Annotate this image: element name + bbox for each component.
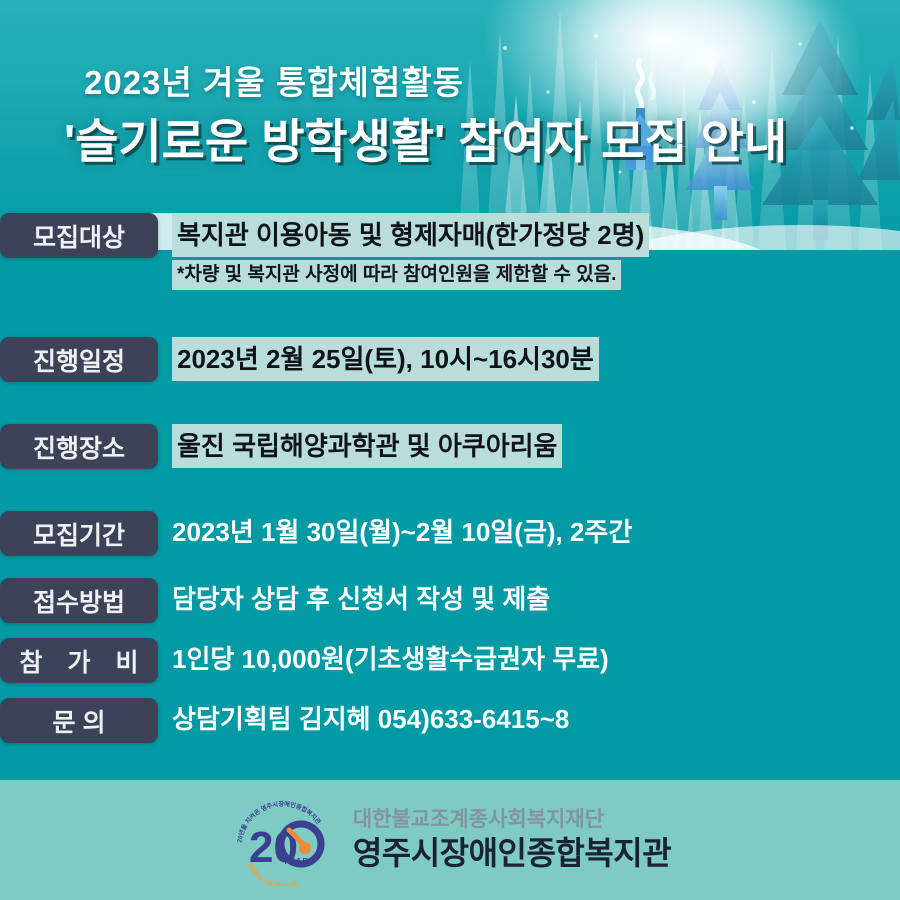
info-row-location: 진행장소 울진 국립해양과학관 및 아쿠아리움 (0, 424, 900, 469)
label-badge-recruit-target: 모집대상 (0, 213, 158, 258)
label-badge-schedule: 진행일정 (0, 337, 158, 382)
emblem-years-label: YEARS (283, 857, 316, 866)
note-recruit-target: *차량 및 복지관 사정에 따라 참여인원을 제한할 수 있음. (172, 260, 621, 290)
value-cell-recruit-period: 2023년 1월 30일(월)~2월 10일(금), 2주간 (158, 511, 900, 553)
value-cell-fee: 1인당 10,000원(기초생활수급권자 무료) (158, 638, 900, 680)
info-row-recruit-period: 모집기간 2023년 1월 30일(월)~2월 10일(금), 2주간 (0, 511, 900, 556)
row-spacer (0, 382, 900, 424)
value-recruit-period: 2023년 1월 30일(월)~2월 10일(금), 2주간 (172, 511, 632, 553)
label-badge-location: 진행장소 (0, 424, 158, 469)
row-spacer (0, 556, 900, 578)
value-cell-apply-method: 담당자 상담 후 신청서 작성 및 제출 (158, 578, 900, 620)
footer-text-block: 대한불교조계종사회복지재단 영주시장애인종합복지관 (353, 807, 671, 873)
anniversary-20-years-emblem-icon: 20년을 지켜온 영주시장애인종합복지관 함께하는 나눔 행복 미래 20 YE… (229, 794, 337, 886)
row-spacer (0, 623, 900, 638)
poster-subtitle: 2023년 겨울 통합체험활동 (84, 60, 900, 106)
value-cell-schedule: 2023년 2월 25일(토), 10시~16시30분 (158, 337, 900, 381)
value-cell-location: 울진 국립해양과학관 및 아쿠아리움 (158, 424, 900, 468)
poster-title: '슬기로운 방학생활' 참여자 모집 안내 (64, 112, 900, 172)
value-fee: 1인당 10,000원(기초생활수급권자 무료) (172, 638, 609, 680)
info-row-recruit-target: 모집대상 복지관 이용아동 및 형제자매(한가정당 2명) *차량 및 복지관 … (0, 213, 900, 290)
row-spacer (0, 469, 900, 511)
label-badge-contact: 문 의 (0, 698, 158, 743)
value-cell-recruit-target: 복지관 이용아동 및 형제자매(한가정당 2명) *차량 및 복지관 사정에 따… (158, 213, 900, 290)
label-badge-apply-method: 접수방법 (0, 578, 158, 623)
info-table: 모집대상 복지관 이용아동 및 형제자매(한가정당 2명) *차량 및 복지관 … (0, 213, 900, 743)
foundation-name: 대한불교조계종사회복지재단 (353, 807, 671, 833)
poster-root: 2023년 겨울 통합체험활동 '슬기로운 방학생활' 참여자 모집 안내 모집… (0, 0, 900, 900)
value-apply-method: 담당자 상담 후 신청서 작성 및 제출 (172, 578, 550, 620)
title-block: 2023년 겨울 통합체험활동 '슬기로운 방학생활' 참여자 모집 안내 (0, 60, 900, 172)
info-row-apply-method: 접수방법 담당자 상담 후 신청서 작성 및 제출 (0, 578, 900, 623)
value-contact: 상담기획팀 김지혜 054)633-6415~8 (172, 698, 569, 740)
label-badge-fee: 참 가 비 (0, 638, 158, 683)
row-spacer (0, 683, 900, 698)
info-row-contact: 문 의 상담기획팀 김지혜 054)633-6415~8 (0, 698, 900, 743)
row-spacer (0, 290, 900, 337)
footer-band: 20년을 지켜온 영주시장애인종합복지관 함께하는 나눔 행복 미래 20 YE… (0, 780, 900, 900)
value-schedule: 2023년 2월 25일(토), 10시~16시30분 (172, 337, 599, 381)
label-badge-recruit-period: 모집기간 (0, 511, 158, 556)
value-location: 울진 국립해양과학관 및 아쿠아리움 (172, 424, 562, 468)
info-row-schedule: 진행일정 2023년 2월 25일(토), 10시~16시30분 (0, 337, 900, 382)
info-row-fee: 참 가 비 1인당 10,000원(기초생활수급권자 무료) (0, 638, 900, 683)
organization-name: 영주시장애인종합복지관 (353, 833, 671, 873)
value-recruit-target: 복지관 이용아동 및 형제자매(한가정당 2명) (172, 213, 649, 257)
value-cell-contact: 상담기획팀 김지혜 054)633-6415~8 (158, 698, 900, 740)
